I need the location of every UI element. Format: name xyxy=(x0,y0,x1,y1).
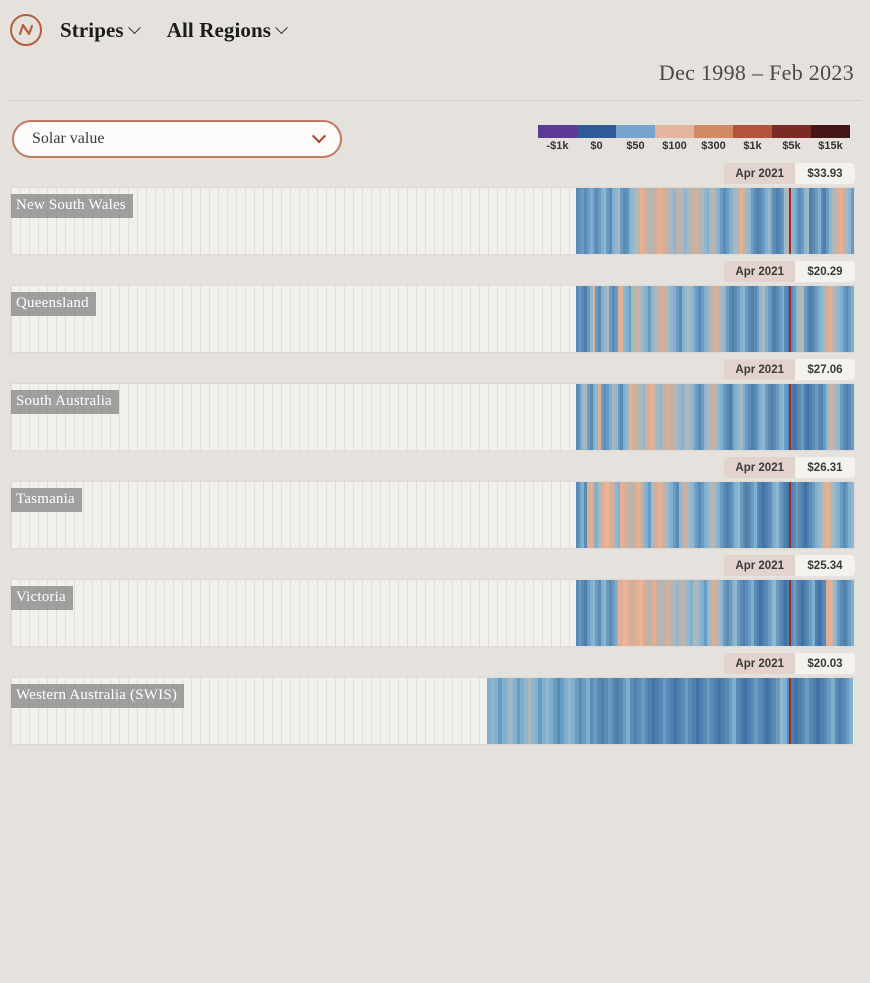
stripe-bars xyxy=(487,678,854,744)
hover-marker-line xyxy=(789,678,791,744)
region-label: Western Australia (SWIS) xyxy=(11,684,184,708)
region-row[interactable]: Apr 2021$27.06South Australia xyxy=(10,359,855,451)
stripe-bar xyxy=(851,188,854,254)
stripe-chart[interactable]: Victoria xyxy=(10,579,855,647)
region-row[interactable]: Apr 2021$33.93New South Wales xyxy=(10,163,855,255)
hover-marker-line xyxy=(789,286,791,352)
region-label: South Australia xyxy=(11,390,119,414)
region-rows: Apr 2021$33.93New South WalesApr 2021$20… xyxy=(0,163,870,745)
tooltip-value: $33.93 xyxy=(795,163,855,184)
row-tooltip: Apr 2021$27.06 xyxy=(10,359,855,380)
legend-swatch-0 xyxy=(538,125,577,138)
legend-label-0: -$1k xyxy=(538,140,577,152)
tooltip-date: Apr 2021 xyxy=(724,359,795,380)
legend-swatch-4 xyxy=(694,125,733,138)
nem-logo-glyph xyxy=(16,20,36,40)
legend-swatch-5 xyxy=(733,125,772,138)
legend-tick-labels: -$1k$0$50$100$300$1k$5k$15k xyxy=(538,140,850,152)
chevron-down-icon xyxy=(128,21,141,34)
stripe-bar xyxy=(851,482,854,548)
date-range-label: Dec 1998 – Feb 2023 xyxy=(659,60,854,100)
stripe-bars xyxy=(576,188,854,254)
tooltip-date: Apr 2021 xyxy=(724,457,795,478)
region-row[interactable]: Apr 2021$25.34Victoria xyxy=(10,555,855,647)
region-label: Tasmania xyxy=(11,488,82,512)
hover-marker-line xyxy=(789,482,791,548)
region-row[interactable]: Apr 2021$20.29Queensland xyxy=(10,261,855,353)
tooltip-value: $20.03 xyxy=(795,653,855,674)
legend-color-bar xyxy=(538,125,850,138)
stripe-chart[interactable]: New South Wales xyxy=(10,187,855,255)
empty-period-grid xyxy=(11,580,576,646)
chevron-down-icon xyxy=(275,21,288,34)
region-label: Victoria xyxy=(11,586,73,610)
app-header: Stripes All Regions xyxy=(0,0,870,60)
stripe-bars xyxy=(576,286,854,352)
legend-label-4: $300 xyxy=(694,140,733,152)
region-row[interactable]: Apr 2021$20.03Western Australia (SWIS) xyxy=(10,653,855,745)
row-tooltip: Apr 2021$20.03 xyxy=(10,653,855,674)
legend-swatch-3 xyxy=(655,125,694,138)
tooltip-date: Apr 2021 xyxy=(724,653,795,674)
row-tooltip: Apr 2021$25.34 xyxy=(10,555,855,576)
tooltip-value: $26.31 xyxy=(795,457,855,478)
legend-swatch-6 xyxy=(772,125,811,138)
legend-swatch-7 xyxy=(811,125,850,138)
stripe-bars xyxy=(576,384,854,450)
stripe-chart[interactable]: Tasmania xyxy=(10,481,855,549)
stripe-bar xyxy=(851,286,854,352)
tooltip-date: Apr 2021 xyxy=(724,555,795,576)
legend-label-1: $0 xyxy=(577,140,616,152)
metric-select-value: Solar value xyxy=(32,130,104,148)
region-label: Queensland xyxy=(11,292,96,316)
stripe-bar xyxy=(851,580,854,646)
stripe-bar xyxy=(851,384,854,450)
legend-label-2: $50 xyxy=(616,140,655,152)
legend-label-7: $15k xyxy=(811,140,850,152)
row-tooltip: Apr 2021$26.31 xyxy=(10,457,855,478)
region-row[interactable]: Apr 2021$26.31Tasmania xyxy=(10,457,855,549)
stripe-chart[interactable]: Western Australia (SWIS) xyxy=(10,677,855,745)
legend-label-6: $5k xyxy=(772,140,811,152)
row-tooltip: Apr 2021$33.93 xyxy=(10,163,855,184)
metric-select[interactable]: Solar value xyxy=(12,120,342,158)
nav-item-stripes-label: Stripes xyxy=(60,18,124,43)
region-label: New South Wales xyxy=(11,194,133,218)
tooltip-value: $27.06 xyxy=(795,359,855,380)
tooltip-value: $25.34 xyxy=(795,555,855,576)
nav-item-all-regions[interactable]: All Regions xyxy=(167,18,286,43)
date-range-container: Dec 1998 – Feb 2023 xyxy=(0,60,870,100)
hover-marker-line xyxy=(789,580,791,646)
row-tooltip: Apr 2021$20.29 xyxy=(10,261,855,282)
nav-item-stripes[interactable]: Stripes xyxy=(60,18,139,43)
chevron-down-icon xyxy=(312,129,326,143)
controls-bar: Solar value -$1k$0$50$100$300$1k$5k$15k xyxy=(0,101,870,163)
nav-item-all-regions-label: All Regions xyxy=(167,18,271,43)
tooltip-date: Apr 2021 xyxy=(724,261,795,282)
nem-logo-icon[interactable] xyxy=(10,14,42,46)
stripe-bars xyxy=(576,482,854,548)
legend-swatch-1 xyxy=(577,125,616,138)
hover-marker-line xyxy=(789,188,791,254)
legend-label-3: $100 xyxy=(655,140,694,152)
stripe-chart[interactable]: Queensland xyxy=(10,285,855,353)
legend-swatch-2 xyxy=(616,125,655,138)
color-legend: -$1k$0$50$100$300$1k$5k$15k xyxy=(538,125,850,152)
stripe-bars xyxy=(576,580,854,646)
stripe-chart[interactable]: South Australia xyxy=(10,383,855,451)
legend-label-5: $1k xyxy=(733,140,772,152)
tooltip-date: Apr 2021 xyxy=(724,163,795,184)
tooltip-value: $20.29 xyxy=(795,261,855,282)
hover-marker-line xyxy=(789,384,791,450)
stripe-bar xyxy=(849,678,853,744)
empty-period-grid xyxy=(11,482,576,548)
